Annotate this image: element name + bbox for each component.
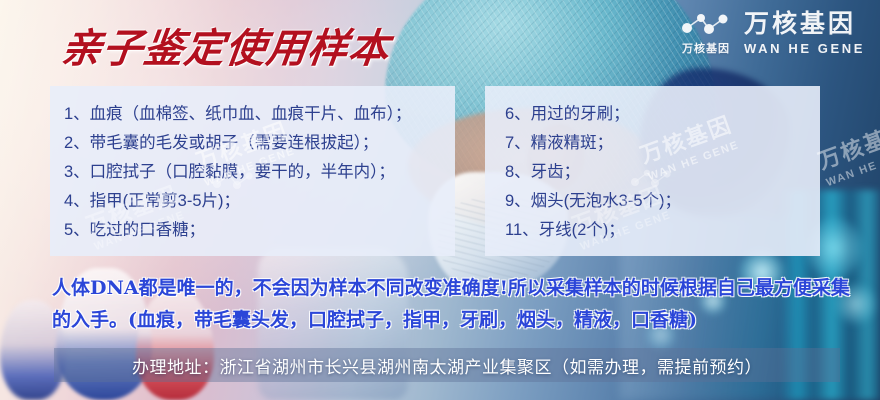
list-item: 3、口腔拭子（口腔黏膜，要干的，半年内）；	[50, 158, 455, 187]
list-item: 11、牙线(2个)；	[485, 216, 820, 245]
brand-logo: 万核基因 万核基因 WAN HE GENE	[678, 10, 865, 56]
list-item: 5、吃过的口香糖；	[50, 216, 455, 245]
paragraph-line: 的入手。(血痕，带毛囊头发，口腔拭子，指甲，牙刷，烟头，精液，口香糖)	[52, 304, 852, 336]
sample-list-right: 6、用过的牙刷； 7、精液精斑； 8、牙齿； 9、烟头(无泡水3-5个)； 11…	[485, 100, 820, 245]
logo-mark-label: 万核基因	[682, 40, 730, 56]
list-item: 8、牙齿；	[485, 158, 820, 187]
paragraph-line: 人体DNA都是唯一的，不会因为样本不同改变准确度!所以采集样本的时候根据自己最方…	[52, 272, 852, 304]
list-item: 2、带毛囊的毛发或胡子（需要连根拔起）；	[50, 129, 455, 158]
brand-name-en: WAN HE GENE	[744, 42, 865, 55]
sample-list-left: 1、血痕（血棉签、纸巾血、血痕干片、血布）； 2、带毛囊的毛发或胡子（需要连根拔…	[50, 100, 455, 245]
list-item: 7、精液精斑；	[485, 129, 820, 158]
address-text: 办理地址：浙江省湖州市长兴县湖州南太湖产业集聚区（如需办理，需提前预约）	[132, 353, 762, 378]
brand-wordmark: 万核基因 WAN HE GENE	[744, 12, 865, 55]
brand-name-cn: 万核基因	[744, 12, 865, 37]
list-item: 1、血痕（血棉签、纸巾血、血痕干片、血布）；	[50, 100, 455, 129]
explanatory-paragraph: 人体DNA都是唯一的，不会因为样本不同改变准确度!所以采集样本的时候根据自己最方…	[52, 272, 852, 336]
poster-root: 亲子鉴定使用样本 万核基因 万核基因 WAN HE GENE 1、血痕（血棉签、…	[0, 0, 880, 400]
list-item: 9、烟头(无泡水3-5个)；	[485, 187, 820, 216]
sample-list-panel-left: 1、血痕（血棉签、纸巾血、血痕干片、血布）； 2、带毛囊的毛发或胡子（需要连根拔…	[50, 86, 455, 256]
sample-list-panel-right: 6、用过的牙刷； 7、精液精斑； 8、牙齿； 9、烟头(无泡水3-5个)； 11…	[485, 86, 820, 256]
address-bar: 办理地址：浙江省湖州市长兴县湖州南太湖产业集聚区（如需办理，需提前预约）	[54, 348, 840, 382]
list-item: 4、指甲(正常剪3-5片)；	[50, 187, 455, 216]
list-item: 6、用过的牙刷；	[485, 100, 820, 129]
molecule-icon: 万核基因	[678, 10, 732, 56]
page-title: 亲子鉴定使用样本	[58, 16, 393, 74]
